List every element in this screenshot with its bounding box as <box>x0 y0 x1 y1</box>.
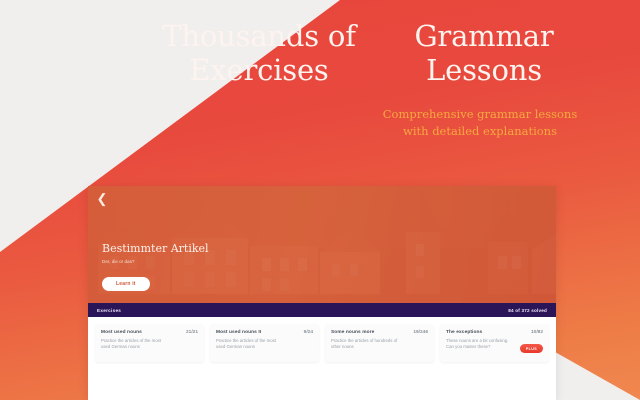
card-title: Most used nouns II <box>216 330 261 335</box>
card-description: Practice the articles of the most used G… <box>216 338 313 350</box>
lesson-hero: ❮ Bestimmter Artikel Der, die or das? Le… <box>88 186 556 303</box>
headline-grammar-lessons: Grammar Lessons <box>390 20 578 88</box>
exercise-card[interactable]: Most used nouns 21/21 Practice the artic… <box>95 324 204 362</box>
back-chevron-icon[interactable]: ❮ <box>96 192 108 206</box>
card-progress-count: 10/82 <box>527 330 543 335</box>
card-title: Most used nouns <box>101 330 142 335</box>
lesson-title: Bestimmter Artikel <box>102 242 332 255</box>
card-header: Most used nouns 21/21 <box>101 330 198 335</box>
exercise-card[interactable]: Some nouns more 19/246 Practice the arti… <box>325 324 434 362</box>
exercise-card[interactable]: The exceptions 10/82 These nouns are a b… <box>440 324 549 362</box>
card-progress-count: 21/21 <box>182 330 198 335</box>
card-header: Most used nouns II 9/24 <box>216 330 313 335</box>
exercise-cards-row: Most used nouns 21/21 Practice the artic… <box>88 317 556 362</box>
card-title: The exceptions <box>446 330 482 335</box>
exercises-progress-text: 84 of 372 solved <box>508 308 547 313</box>
card-description: Practice the articles of the most used G… <box>101 338 198 350</box>
promo-screenshot: Thousands of Exercises Grammar Lessons C… <box>0 0 640 400</box>
card-title: Some nouns more <box>331 330 374 335</box>
lesson-subtitle: Der, die or das? <box>102 258 332 265</box>
headline-thousands-of-exercises: Thousands of Exercises <box>148 20 370 88</box>
learn-it-button[interactable]: Learn it <box>102 277 150 291</box>
card-header: The exceptions 10/82 <box>446 330 543 335</box>
exercise-card[interactable]: Most used nouns II 9/24 Practice the art… <box>210 324 319 362</box>
card-progress-count: 9/24 <box>300 330 313 335</box>
lesson-hero-text: Bestimmter Artikel Der, die or das? Lear… <box>102 242 332 291</box>
app-screenshot-panel: ❮ Bestimmter Artikel Der, die or das? Le… <box>88 186 556 400</box>
exercises-bar-label: Exercises <box>97 308 121 313</box>
card-header: Some nouns more 19/246 <box>331 330 428 335</box>
plus-badge[interactable]: PLUS <box>520 344 543 353</box>
card-progress-count: 19/246 <box>409 330 428 335</box>
card-description: Practice the articles of hundreds of oth… <box>331 338 428 350</box>
exercises-bar: Exercises 84 of 372 solved <box>88 303 556 317</box>
marketing-subtitle: Comprehensive grammar lessons with detai… <box>360 106 600 141</box>
